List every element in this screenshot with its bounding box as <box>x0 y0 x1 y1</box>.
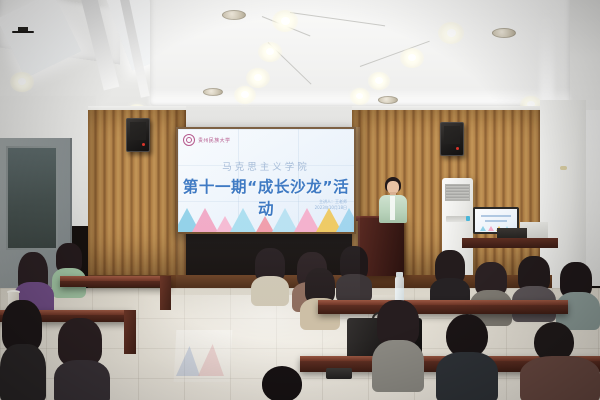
smartphone[interactable] <box>326 368 352 379</box>
wall-speaker-left-icon <box>126 118 150 152</box>
lecture-hall-photo: 贵州民族大学 马克思主义学院 第十一期“成长沙龙”活动 主讲人：王老师 2023… <box>0 0 600 400</box>
downlight <box>350 88 370 105</box>
audience-member <box>251 248 289 304</box>
presenter <box>377 177 409 223</box>
ceiling-speaker-icon <box>203 88 223 96</box>
audience-member <box>52 243 86 295</box>
speaker-led-icon <box>142 143 145 146</box>
bottle-cap <box>396 272 403 277</box>
downlight <box>400 48 424 68</box>
desk-side-panel <box>160 276 171 310</box>
audience-member <box>336 246 372 300</box>
downlight <box>234 86 256 104</box>
audience-member-foreground <box>0 300 46 400</box>
ceiling-speaker-icon <box>378 96 398 104</box>
downlight <box>272 10 298 32</box>
ceiling-speaker-icon <box>222 10 246 20</box>
audience-member <box>300 268 340 328</box>
wall-speaker-right-icon <box>440 122 464 156</box>
speaker-led-icon <box>456 147 459 150</box>
slide-logo-text: 贵州民族大学 <box>198 137 230 144</box>
desk-row <box>318 300 568 314</box>
downlight <box>246 68 270 88</box>
door-window <box>6 146 58 250</box>
ac-led-icon <box>466 216 470 221</box>
university-emblem-icon <box>183 134 195 146</box>
audience-member-foreground <box>246 366 316 400</box>
wall-mark <box>560 166 567 170</box>
projector-floor-reflection <box>174 330 233 382</box>
audience-member-foreground <box>520 322 600 400</box>
downlight <box>258 42 282 62</box>
downlight <box>10 72 34 92</box>
downlight <box>368 72 390 90</box>
presenter-shirt <box>390 196 395 220</box>
ac-vent-grille <box>445 184 470 201</box>
audience-member-foreground <box>436 314 498 400</box>
slide-subtitle: 马克思主义学院 <box>178 159 354 173</box>
audience-member-foreground <box>372 300 424 390</box>
audience-member-foreground <box>54 318 110 400</box>
desk-row <box>60 276 170 287</box>
desk-side-panel <box>124 310 136 354</box>
slide-university-logo: 贵州民族大学 <box>183 134 230 146</box>
audience-member <box>556 262 600 328</box>
equipment-table <box>462 238 558 248</box>
ceiling-speaker-icon <box>492 28 516 38</box>
slide-chevron-graphics <box>178 206 354 232</box>
downlight <box>438 22 464 44</box>
projection-screen: 贵州民族大学 马克思主义学院 第十一期“成长沙龙”活动 主讲人：王老师 2023… <box>176 127 356 234</box>
monitor-base <box>12 31 34 33</box>
cove-light <box>540 4 554 110</box>
